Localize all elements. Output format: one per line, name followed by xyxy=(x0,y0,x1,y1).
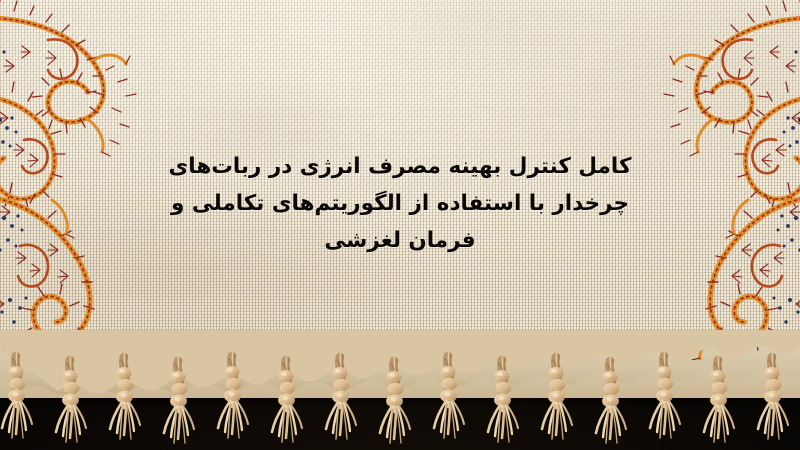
title-line-2: چرخدار با استفاده از الگوریتم‌های تکاملی… xyxy=(150,185,650,222)
title-line-1: کامل کنترل بهینه مصرف انرژی در ربات‌های xyxy=(150,148,650,185)
hem-wave-shape xyxy=(0,336,800,398)
title-line-3: فرمان لغزشی xyxy=(150,222,650,259)
title-card-stage: کامل کنترل بهینه مصرف انرژی در ربات‌های … xyxy=(0,0,800,450)
page-title: کامل کنترل بهینه مصرف انرژی در ربات‌های … xyxy=(0,148,800,259)
cloth-hem xyxy=(0,336,800,398)
